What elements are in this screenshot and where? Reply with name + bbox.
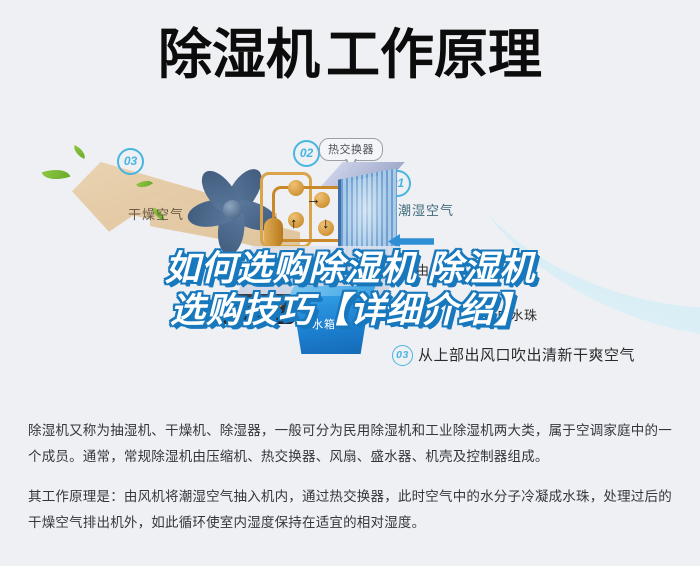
leaf-icon: [71, 145, 88, 159]
article-page: 除湿机工作原理 干燥空气 潮湿空气 03 02 01 热交换器: [0, 0, 700, 566]
step-badge-03: 03: [117, 148, 144, 175]
overlay-headline-line-1: 如何选购除湿机 除湿机: [0, 248, 700, 290]
overlay-headline: 如何选购除湿机 除湿机 选购技巧【详细介绍】: [0, 248, 700, 332]
fan-hub: [223, 200, 242, 219]
heat-exchanger-callout: 热交换器: [319, 138, 383, 161]
step-badge-03-inline: 03: [392, 345, 413, 366]
coil-node: [288, 180, 304, 196]
dry-air-label: 干燥空气: [128, 204, 184, 223]
flow-arrow-right-icon: →: [306, 192, 321, 207]
page-title-part-2: 工作原理: [326, 25, 542, 85]
flow-arrow-up-icon: ↑: [290, 216, 298, 231]
paragraph-spacer: [28, 470, 676, 484]
humid-air-label: 潮湿空气: [398, 200, 454, 219]
step-badge-02: 02: [293, 140, 320, 167]
page-title-part-1: 除湿机: [158, 25, 320, 85]
article-paragraph-2: 其工作原理是：由风机将潮湿空气抽入机内，通过热交换器，此时空气中的水分子冷凝成水…: [28, 484, 676, 536]
leaf-icon: [42, 164, 71, 184]
article-paragraph-1: 除湿机又称为抽湿机、干燥机、除湿器，一般可分为民用除湿机和工业除湿机两大类，属于…: [28, 418, 676, 470]
page-title: 除湿机工作原理: [0, 24, 700, 86]
article-body: 除湿机又称为抽湿机、干燥机、除湿器，一般可分为民用除湿机和工业除湿机两大类，属于…: [28, 418, 676, 536]
overlay-headline-line-2: 选购技巧【详细介绍】: [0, 290, 700, 332]
compressor-cylinder: [264, 218, 283, 248]
step-03-text: 从上部出风口吹出清新干爽空气: [418, 347, 635, 364]
step-03-description: 03从上部出风口吹出清新干爽空气: [392, 344, 635, 366]
